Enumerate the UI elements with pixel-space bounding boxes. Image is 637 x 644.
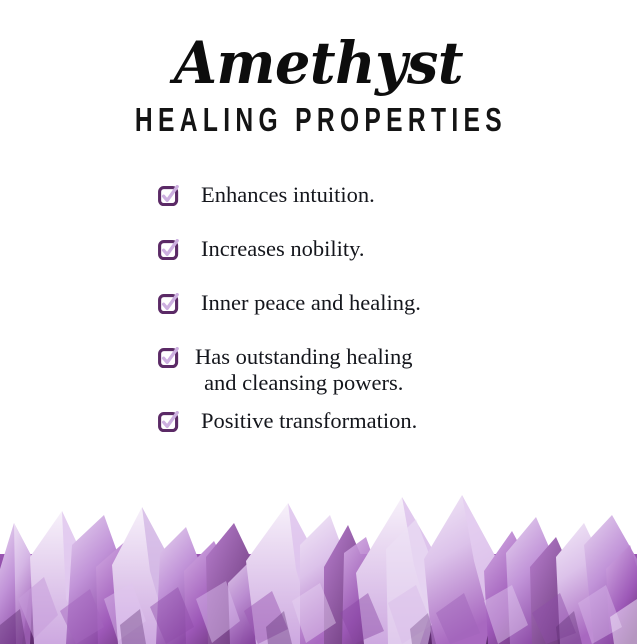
list-item-label: Increases nobility. — [201, 236, 365, 262]
list-item: Positive transformation. — [158, 408, 578, 434]
list-item: Increases nobility. — [158, 236, 578, 262]
list-item-label: Positive transformation. — [201, 408, 417, 434]
healing-properties-list: Enhances intuition. Increases nobility. … — [158, 182, 578, 462]
checked-checkbox-icon — [158, 239, 179, 260]
heading-block: Amethyst HEALING PROPERTIES — [0, 34, 637, 136]
checked-checkbox-icon — [158, 347, 179, 368]
list-item: Enhances intuition. — [158, 182, 578, 208]
list-item-label: Has outstanding healing and cleansing po… — [195, 344, 412, 396]
page-title: Amethyst — [13, 34, 625, 92]
list-item-label: Inner peace and healing. — [201, 290, 421, 316]
page-subtitle: HEALING PROPERTIES — [57, 104, 579, 138]
checked-checkbox-icon — [158, 411, 179, 432]
amethyst-healing-properties-poster: Amethyst HEALING PROPERTIES Enhances int… — [0, 0, 637, 644]
list-item: Has outstanding healing and cleansing po… — [158, 344, 578, 396]
checked-checkbox-icon — [158, 185, 179, 206]
amethyst-crystal-cluster-photo — [0, 449, 637, 644]
checked-checkbox-icon — [158, 293, 179, 314]
list-item: Inner peace and healing. — [158, 290, 578, 316]
list-item-label: Enhances intuition. — [201, 182, 375, 208]
